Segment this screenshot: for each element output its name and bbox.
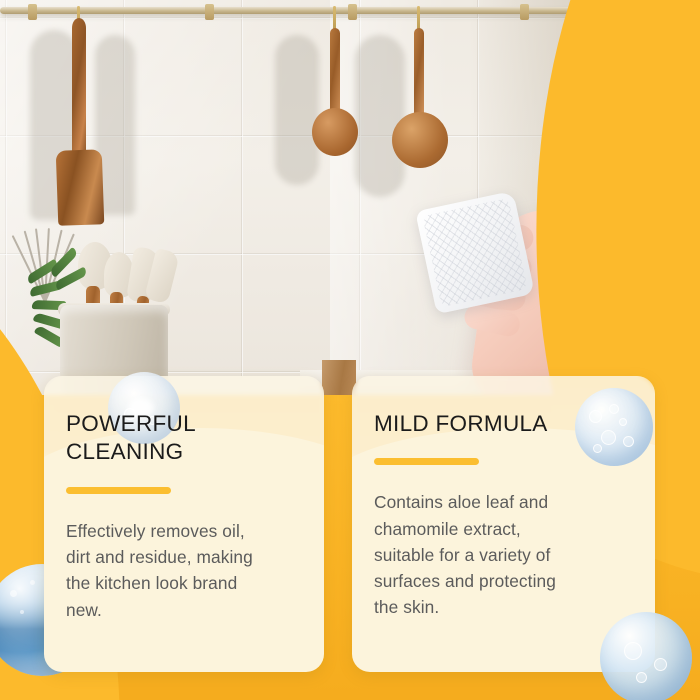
rail-bracket [205,4,214,20]
wood-panel [322,360,356,400]
wooden-spatula-blade [56,149,105,226]
rail-bracket [348,4,357,20]
card-body-text: Effectively removes oil, dirt and residu… [66,518,302,623]
soap-bubble-icon [600,612,692,700]
product-feature-banner: POWERFUL CLEANING Effectively removes oi… [0,0,700,700]
wooden-spatula-handle [72,18,86,168]
wooden-spoon-bowl [312,108,358,156]
rail-bracket [28,4,37,20]
ladle-shadow [355,35,405,197]
rail-bracket [520,4,529,20]
card-title: POWERFUL CLEANING [66,410,302,467]
feature-card-mild-formula[interactable]: MILD FORMULA Contains aloe leaf and cham… [352,376,655,672]
wooden-spoon-handle [330,28,340,118]
feature-card-powerful-cleaning[interactable]: POWERFUL CLEANING Effectively removes oi… [44,376,324,672]
card-accent-bar [66,487,171,494]
card-title: MILD FORMULA [374,410,633,438]
wooden-ladle-handle [414,28,424,120]
card-body-text: Contains aloe leaf and chamomile extract… [374,489,633,620]
cleaning-wipe [415,191,535,314]
card-accent-bar [374,458,479,465]
wooden-ladle-bowl [392,112,448,168]
spoon-shadow [275,35,319,185]
